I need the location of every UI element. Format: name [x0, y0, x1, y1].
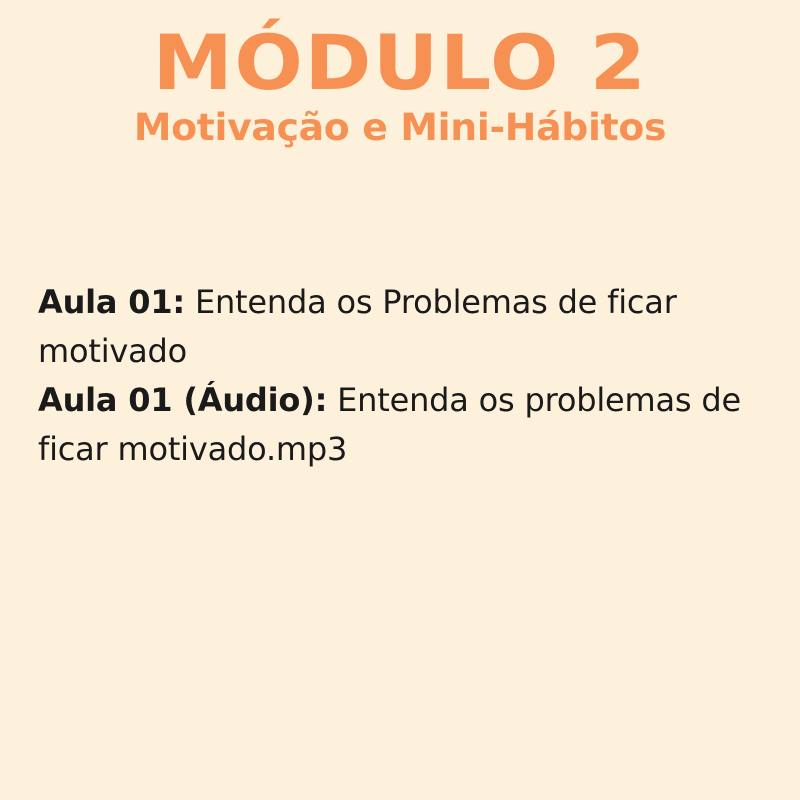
- lesson-label: Aula 01:: [38, 283, 185, 321]
- module-slide: MÓDULO 2 Motivação e Mini-Hábitos Aula 0…: [0, 0, 800, 800]
- list-item: Aula 01: Entenda os Problemas de ficar m…: [38, 278, 744, 376]
- page-title: MÓDULO 2: [0, 26, 800, 100]
- lesson-label: Aula 01 (Áudio):: [38, 381, 327, 419]
- list-item: Aula 01 (Áudio): Entenda os problemas de…: [38, 376, 744, 474]
- lesson-list: Aula 01: Entenda os Problemas de ficar m…: [38, 278, 744, 474]
- slide-header: MÓDULO 2 Motivação e Mini-Hábitos: [0, 0, 800, 148]
- page-subtitle: Motivação e Mini-Hábitos: [0, 100, 800, 148]
